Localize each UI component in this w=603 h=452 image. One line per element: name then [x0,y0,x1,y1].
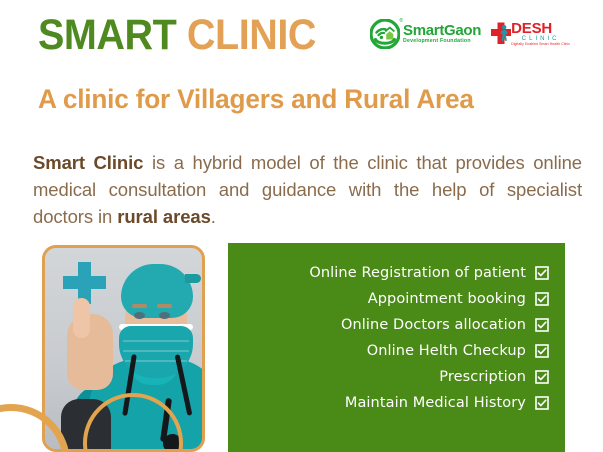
doctor-surgical-cap [121,264,193,318]
checkbox-checked-icon[interactable] [535,344,549,358]
feature-label: Online Helth Checkup [367,343,526,359]
doctor-eye-right [159,312,170,319]
list-item: Online Helth Checkup [242,343,549,359]
feature-label: Maintain Medical History [345,395,526,411]
feature-label: Prescription [439,369,526,385]
feature-label: Appointment booking [368,291,526,307]
list-item: Prescription [242,369,549,385]
checkbox-checked-icon[interactable] [535,396,549,410]
doctor-eye-left [134,312,145,319]
mask-fold [123,350,189,352]
page-title: SMART CLINIC [38,14,316,57]
doctor-eyebrow-right [157,304,172,308]
smart-clinic-poster: SMART CLINIC ® SmartGaon Development Fou… [0,0,603,452]
teal-medical-cross-icon-bar [63,276,106,289]
desh-wordmark: DESH CLINIC Digitally Enabled Smart Heal… [511,21,570,46]
list-item: Maintain Medical History [242,395,549,411]
features-panel: Online Registration of patient Appointme… [228,243,565,452]
doctor-thumb-up [73,298,90,338]
page-subtitle: A clinic for Villagers and Rural Area [38,84,474,115]
intro-body-b: . [211,206,216,227]
checkbox-checked-icon[interactable] [535,370,549,384]
red-medical-cross-person-icon [489,21,513,47]
doctor-eyebrow-left [132,304,147,308]
list-item: Online Registration of patient [242,265,549,281]
mask-fold [123,340,189,342]
smartgaon-tagline: Development Foundation [403,39,481,44]
doctor-cap-tie [185,274,201,283]
checkbox-checked-icon[interactable] [535,266,549,280]
doctor-photo [45,248,202,449]
list-item: Appointment booking [242,291,549,307]
feature-label: Online Doctors allocation [341,317,526,333]
checkbox-checked-icon[interactable] [535,292,549,306]
feature-label: Online Registration of patient [309,265,526,281]
registered-mark: ® [399,18,403,24]
smartgaon-logo: ® SmartGaon Development Foundation [370,19,481,49]
doctor-photo-card [42,245,205,452]
brand-word-smart: SMART [38,11,176,59]
desh-clinic-logo: DESH CLINIC Digitally Enabled Smart Heal… [489,21,570,47]
desh-name: DESH [511,21,570,36]
list-item: Online Doctors allocation [242,317,549,333]
intro-paragraph: Smart Clinic is a hybrid model of the cl… [33,149,582,231]
intro-bold-lead: Smart Clinic [33,152,143,173]
smartgaon-name: SmartGaon [403,23,481,38]
checkbox-checked-icon[interactable] [535,318,549,332]
desh-tagline: Digitally Enabled Smart Health Clinic [511,43,570,46]
feature-list: Online Registration of patient Appointme… [242,265,549,411]
smartgaon-circle-wifi-house-icon: ® [370,19,400,49]
smartgaon-wordmark: SmartGaon Development Foundation [403,23,481,44]
intro-bold-tail: rural areas [117,206,211,227]
logo-group: ® SmartGaon Development Foundation DESH … [370,19,570,49]
brand-word-clinic: CLINIC [187,11,316,59]
